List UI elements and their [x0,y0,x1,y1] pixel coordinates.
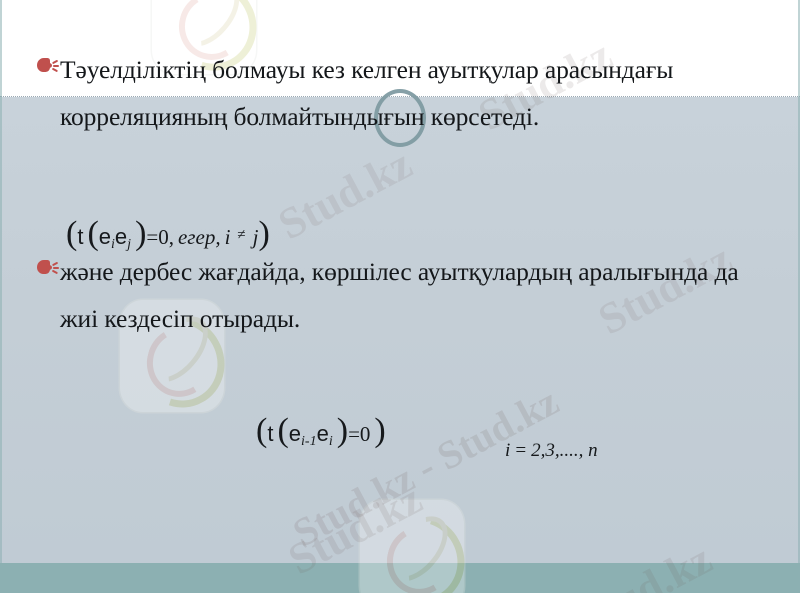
formula-inner-open: ( [277,412,288,449]
slide-canvas: Stud.kz Stud.kz Stud.kz Stud.kz - Stud.k… [0,0,800,593]
bullet-text: Тәуелділіктің болмауы кез келген ауытқул… [60,46,756,140]
formula-open-paren: ( [256,412,267,449]
formula-zero: 0 [158,225,169,249]
formula-covariance-adjacent: (t (ei-1ei )=0 ) [256,412,386,450]
formula-close-paren: ) [259,215,270,252]
formula-inner-close: ) [337,412,348,449]
range-values: 2,3,...., n [531,440,598,461]
formula-comma: , [169,225,174,249]
formula-inner-open: ( [87,215,98,252]
formula-not-equal: ≠ [230,227,252,243]
formula-variable-e2: e [115,224,127,249]
formula-equals: = [146,225,158,249]
speaking-head-icon [36,256,60,282]
range-variable: i [505,440,510,461]
bullet-text: және дербес жағдайда, көршілес ауытқулар… [60,248,756,342]
bullet-item: және дербес жағдайда, көршілес ауытқулар… [36,248,756,342]
formula-subscript-i: i [329,434,333,449]
range-equals: = [514,440,527,461]
bullet-item: Тәуелділіктің болмауы кез келген ауытқул… [36,46,756,140]
formula-variable-e2: e [317,421,329,446]
formula-inner-close: ) [135,215,146,252]
formula-close-paren: ) [374,412,385,449]
formula-variable-e1: e [99,224,111,249]
formula-condition-comma: , [215,225,220,249]
formula-zero: 0 [360,422,371,446]
formula-open-paren: ( [66,215,77,252]
formula-index-range: i = 2,3,...., n [505,440,598,462]
formula-subscript-im1: i-1 [301,434,317,449]
left-edge-stripe [0,0,2,593]
formula-condition-word: егер [178,225,215,249]
formula-equals: = [348,422,360,446]
formula-function: t [77,224,83,249]
logo-watermark-icon [360,500,464,593]
formula-variable-e1: e [289,421,301,446]
formula-function: t [267,421,273,446]
speaking-head-icon [36,54,60,80]
